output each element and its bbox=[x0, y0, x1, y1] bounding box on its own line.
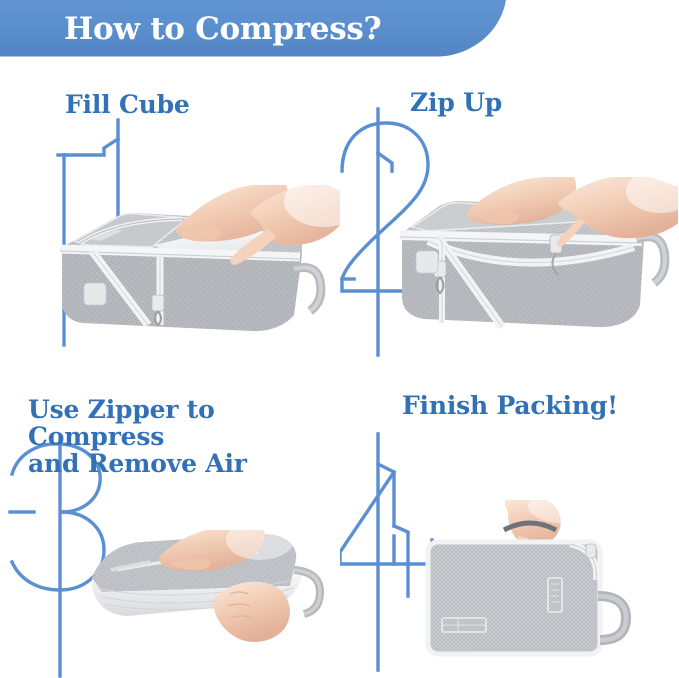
packing-cube-flat-icon bbox=[88, 530, 338, 660]
step-title-4: Finish Packing! bbox=[402, 392, 618, 419]
packing-cube-compressed-icon bbox=[418, 500, 666, 660]
step-title-2: Zip Up bbox=[410, 89, 502, 116]
step-panel-2: Zip Up bbox=[340, 57, 679, 359]
illustration-step-3 bbox=[88, 530, 338, 660]
step-title-3: Use Zipper to Compress and Remove Air bbox=[28, 396, 328, 477]
steps-grid: Fill Cube bbox=[0, 57, 679, 662]
illustration-step-4 bbox=[418, 500, 666, 660]
header-banner: How to Compress? bbox=[0, 0, 507, 57]
infographic-root: How to Compress? Fill Cube bbox=[0, 0, 679, 662]
page-title: How to Compress? bbox=[64, 7, 484, 51]
step-panel-4: Finish Packing! bbox=[340, 360, 679, 662]
step-panel-3: Use Zipper to Compress and Remove Air bbox=[0, 360, 339, 662]
illustration-step-2 bbox=[398, 177, 678, 342]
step-title-1: Fill Cube bbox=[65, 91, 190, 118]
illustration-step-1 bbox=[56, 185, 340, 335]
packing-cube-open-icon bbox=[56, 185, 340, 335]
step-panel-1: Fill Cube bbox=[0, 57, 339, 359]
packing-cube-zip-icon bbox=[398, 177, 678, 342]
